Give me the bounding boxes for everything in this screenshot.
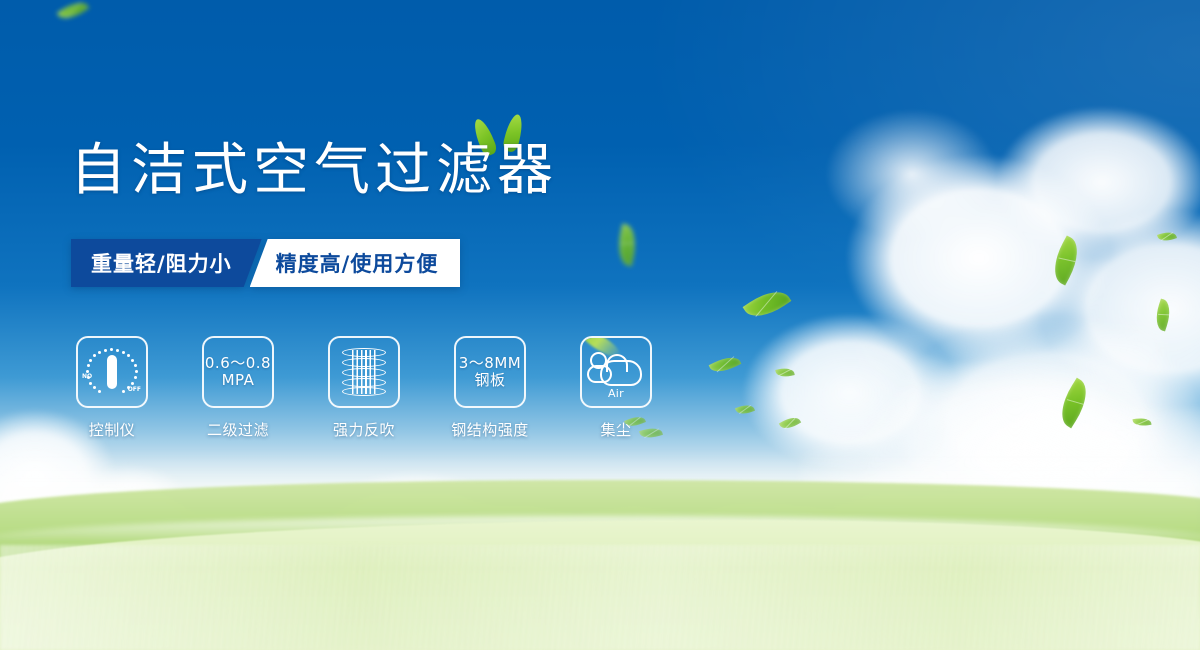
floating-leaf-icon (779, 414, 801, 433)
product-banner: 自洁式空气过滤器 重量轻/阻力小 精度高/使用方便 (0, 0, 1200, 650)
feature-icon-box: 3～8MM 钢板 (454, 336, 526, 408)
feature-icon-box: NO OFF (76, 336, 148, 408)
floating-leaf-icon (57, 0, 89, 24)
feature-icon-box: Air (580, 336, 652, 408)
floating-leaf-icon (735, 402, 755, 417)
subtitle-bar: 重量轻/阻力小 精度高/使用方便 (71, 239, 460, 287)
floating-leaf-icon (709, 352, 742, 377)
feature-item-steel-strength[interactable]: 3～8MM 钢板 钢结构强度 (449, 336, 531, 440)
feature-label: 集尘 (600, 419, 631, 440)
air-label: Air (586, 387, 646, 400)
subtitle-left-segment: 重量轻/阻力小 (71, 239, 262, 287)
feature-item-dust-collection[interactable]: Air 集尘 (575, 336, 657, 440)
feature-item-controller[interactable]: NO OFF 控制仪 (71, 336, 153, 440)
grass-sheen (0, 545, 1200, 650)
cloud-air-icon: Air (586, 348, 646, 396)
page-title: 自洁式空气过滤器 (70, 143, 558, 199)
floating-leaf-icon (1157, 229, 1177, 243)
feature-item-blowback[interactable]: 强力反吹 (323, 336, 405, 440)
pressure-value-line2: MPA (222, 372, 255, 389)
cloud-large-icon (600, 360, 642, 386)
gauge-needle-icon (107, 355, 117, 389)
steel-value-line1: 3～8MM (459, 355, 521, 372)
gauge-icon: NO OFF (84, 346, 140, 398)
subtitle-right-segment: 精度高/使用方便 (250, 239, 461, 287)
floating-leaf-icon (1152, 299, 1175, 332)
gauge-off-label: OFF (128, 386, 141, 393)
feature-icon-box: 0.6～0.8 MPA (202, 336, 274, 408)
feature-label: 二级过滤 (207, 419, 269, 440)
floating-leaf-icon (775, 366, 794, 379)
feature-label: 钢结构强度 (451, 419, 529, 440)
coil-filter-icon (342, 347, 386, 397)
feature-label: 强力反吹 (333, 419, 395, 440)
steel-value-line2: 钢板 (474, 372, 505, 389)
feature-item-secondary-filter[interactable]: 0.6～0.8 MPA 二级过滤 (197, 336, 279, 440)
feature-icon-box (328, 336, 400, 408)
gauge-on-label: NO (82, 373, 92, 380)
floating-leaf-icon (743, 283, 792, 326)
floating-leaf-icon (614, 224, 640, 267)
feature-label: 控制仪 (89, 419, 136, 440)
floating-leaf-icon (1046, 235, 1087, 285)
floating-leaf-icon (1133, 417, 1152, 427)
feature-list: NO OFF 控制仪 0.6～0.8 MPA 二级过滤 (71, 336, 657, 440)
floating-leaf-icon (1052, 378, 1095, 429)
pressure-value-line1: 0.6～0.8 (205, 355, 271, 372)
